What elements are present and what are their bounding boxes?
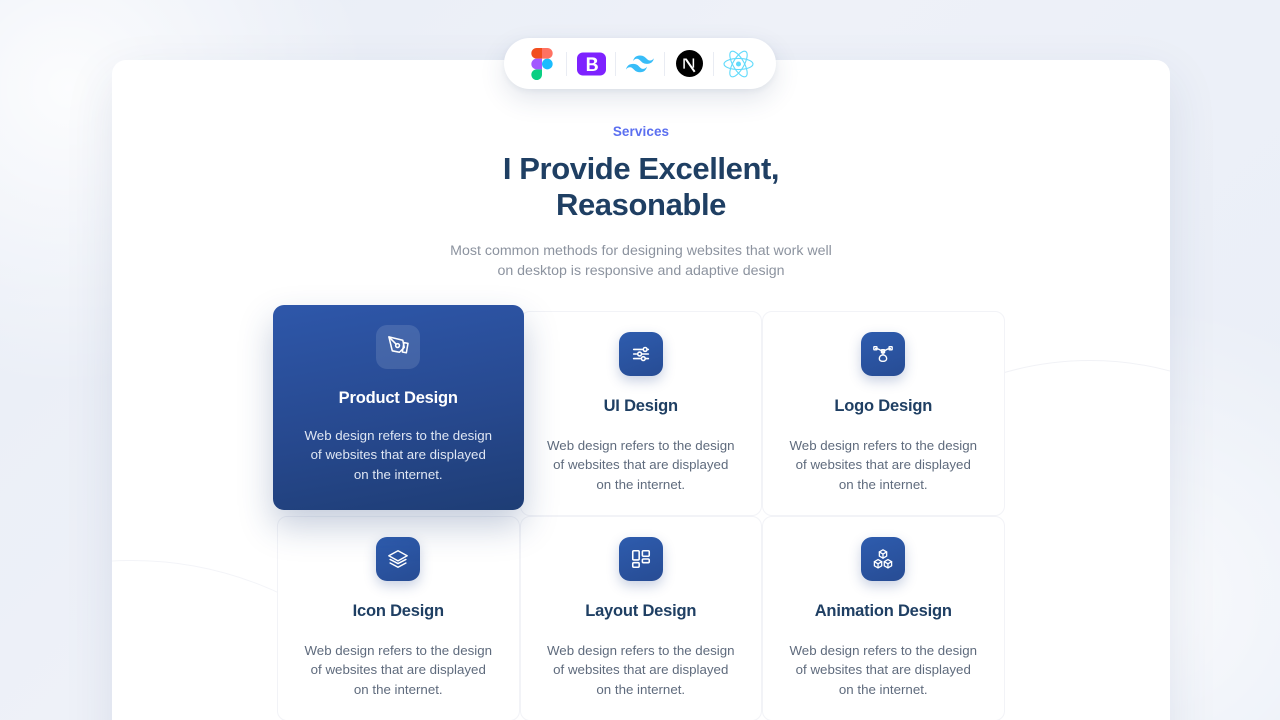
nextjs-icon xyxy=(676,50,703,77)
figma-icon xyxy=(531,48,553,80)
page-title: I Provide Excellent, Reasonable xyxy=(112,151,1170,224)
service-description: Web design refers to the design of websi… xyxy=(303,426,493,485)
services-section: Services I Provide Excellent, Reasonable… xyxy=(112,60,1170,720)
react-icon xyxy=(723,50,754,78)
toolbar-divider xyxy=(664,52,665,76)
toolbar-divider xyxy=(615,52,616,76)
service-card-product-design[interactable]: Product Design Web design refers to the … xyxy=(273,305,524,510)
service-title: Icon Design xyxy=(353,602,444,621)
service-title: Logo Design xyxy=(834,397,932,416)
pen-nib-icon xyxy=(387,335,410,358)
headline-line-2: Reasonable xyxy=(556,187,726,222)
layers-icon xyxy=(387,548,409,570)
service-icon-wrapper xyxy=(861,537,905,581)
service-description: Web design refers to the design of websi… xyxy=(788,436,978,495)
section-eyebrow: Services xyxy=(112,124,1170,139)
cubes-icon xyxy=(872,548,894,570)
service-card-logo-design[interactable]: Logo Design Web design refers to the des… xyxy=(762,311,1005,516)
service-icon-wrapper xyxy=(619,537,663,581)
service-card-ui-design[interactable]: UI Design Web design refers to the desig… xyxy=(520,311,763,516)
service-description: Web design refers to the design of websi… xyxy=(546,436,736,495)
layout-grid-icon xyxy=(630,548,652,570)
service-icon-wrapper xyxy=(861,332,905,376)
services-grid: Product Design Web design refers to the … xyxy=(277,311,1005,720)
section-subtitle: Most common methods for designing websit… xyxy=(112,241,1170,281)
service-card-layout-design[interactable]: Layout Design Web design refers to the d… xyxy=(520,516,763,720)
service-title: Product Design xyxy=(339,389,458,408)
headline-line-1: I Provide Excellent, xyxy=(503,151,779,186)
bezier-curve-icon xyxy=(872,343,894,365)
tool-tailwind[interactable] xyxy=(624,48,656,80)
tool-react[interactable] xyxy=(722,48,754,80)
service-description: Web design refers to the design of websi… xyxy=(788,641,978,700)
tool-figma[interactable] xyxy=(526,48,558,80)
service-icon-wrapper xyxy=(619,332,663,376)
toolbar-divider xyxy=(566,52,567,76)
service-icon-wrapper xyxy=(376,537,420,581)
service-description: Web design refers to the design of websi… xyxy=(303,641,493,700)
page-sheet: Services I Provide Excellent, Reasonable… xyxy=(112,60,1170,720)
service-card-icon-design[interactable]: Icon Design Web design refers to the des… xyxy=(277,516,520,720)
service-card-animation-design[interactable]: Animation Design Web design refers to th… xyxy=(762,516,1005,720)
sliders-icon xyxy=(630,343,652,365)
tech-stack-toolbar xyxy=(504,38,776,89)
service-description: Web design refers to the design of websi… xyxy=(546,641,736,700)
service-title: Layout Design xyxy=(585,602,696,621)
tool-nextjs[interactable] xyxy=(673,48,705,80)
bootstrap-icon xyxy=(577,52,606,76)
service-title: Animation Design xyxy=(815,602,952,621)
tool-bootstrap[interactable] xyxy=(575,48,607,80)
service-icon-wrapper xyxy=(376,325,420,369)
subtitle-line-2: on desktop is responsive and adaptive de… xyxy=(497,263,784,279)
tailwind-icon xyxy=(626,55,654,73)
subtitle-line-1: Most common methods for designing websit… xyxy=(450,243,832,259)
service-title: UI Design xyxy=(604,397,678,416)
toolbar-divider xyxy=(713,52,714,76)
